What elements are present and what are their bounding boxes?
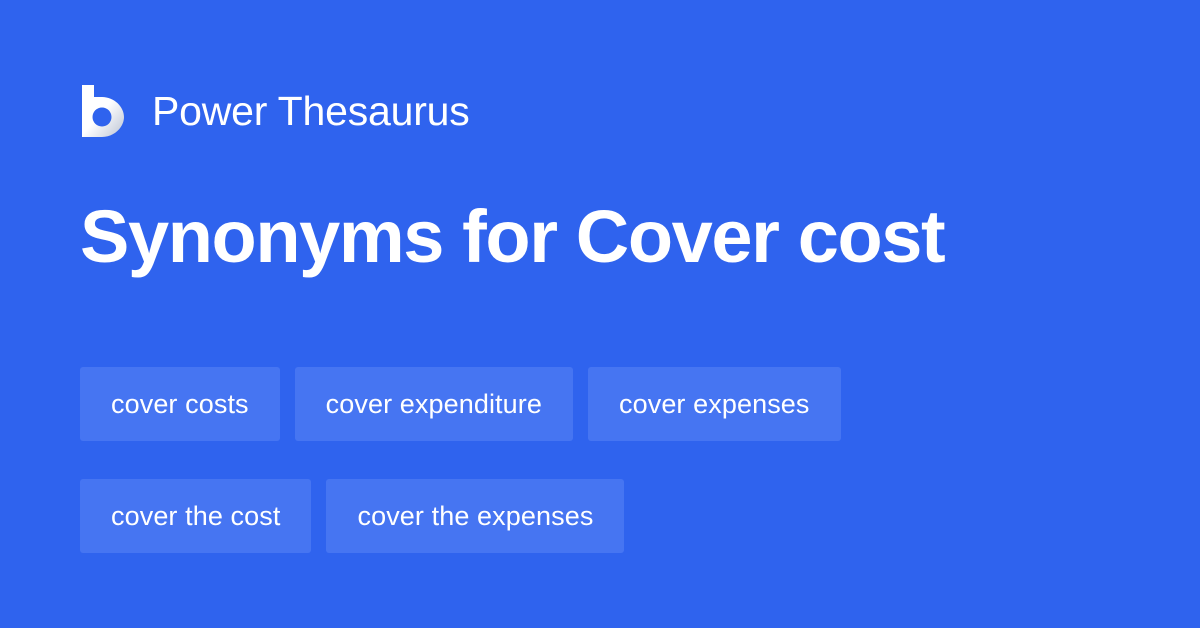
- synonym-tag[interactable]: cover the cost: [80, 479, 311, 553]
- share-card: power thesaurus Synonyms for Cover cost …: [0, 0, 1200, 628]
- brand-logo[interactable]: power thesaurus: [80, 82, 470, 140]
- synonym-tag[interactable]: cover expenses: [588, 367, 841, 441]
- synonym-tag[interactable]: cover the expenses: [326, 479, 624, 553]
- power-thesaurus-b-logo-icon: [80, 85, 128, 137]
- synonym-tag[interactable]: cover expenditure: [295, 367, 573, 441]
- synonym-tag[interactable]: cover costs: [80, 367, 280, 441]
- brand-name: power thesaurus: [152, 91, 470, 132]
- page-title: Synonyms for Cover cost: [80, 196, 1140, 279]
- synonym-tag-list: cover costscover expenditurecover expens…: [80, 367, 1140, 553]
